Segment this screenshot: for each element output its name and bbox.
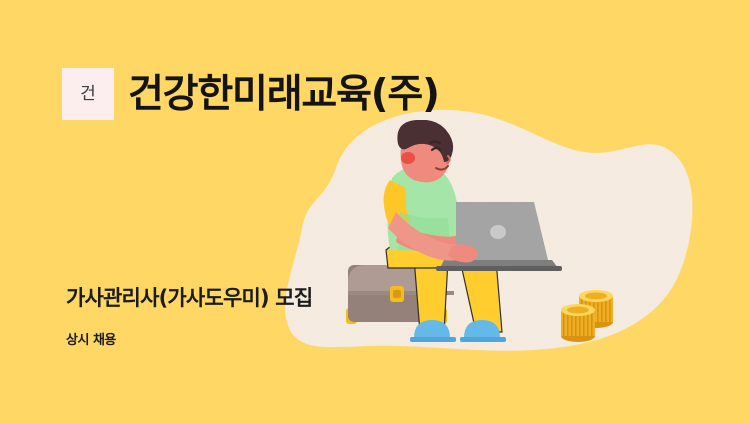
company-logo-badge: 건: [62, 68, 114, 120]
job-posting-banner: 건 건강한미래교육(주): [0, 0, 750, 423]
job-info: 가사관리사(가사도우미) 모집 상시 채용: [66, 288, 312, 347]
company-logo-initial: 건: [80, 86, 96, 103]
company-name: 건강한미래교육(주): [128, 75, 439, 114]
job-title: 가사관리사(가사도우미) 모집: [66, 288, 312, 309]
job-status-badge: 상시 채용: [66, 334, 312, 347]
person-working-on-laptop-illustration: [340, 120, 630, 350]
company-header: 건 건강한미래교육(주): [62, 68, 439, 120]
